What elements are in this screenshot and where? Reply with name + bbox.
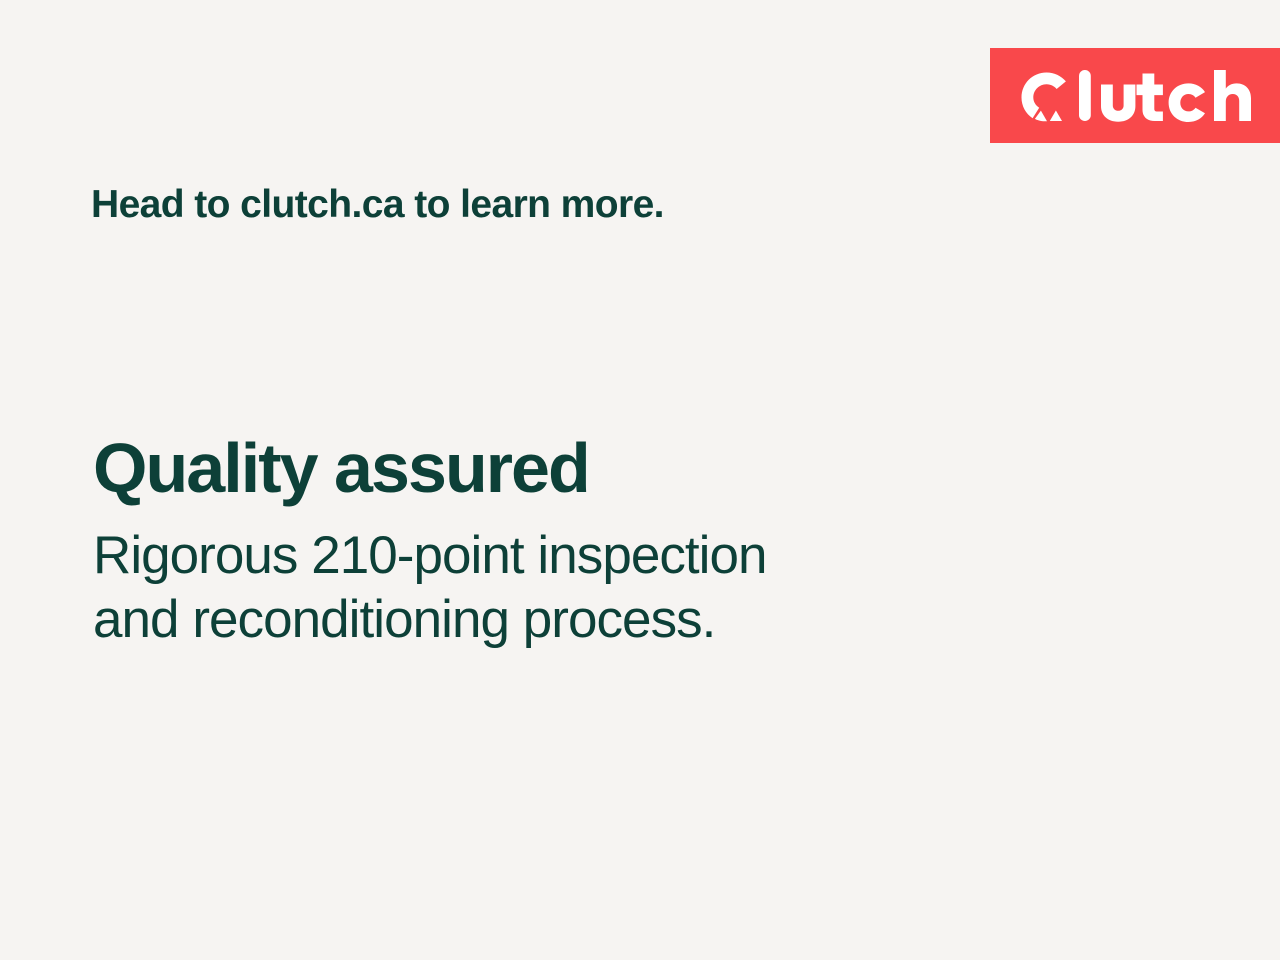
page-title: Quality assured [93, 432, 1073, 506]
copy-block: Quality assured Rigorous 210-point inspe… [93, 432, 1073, 653]
subhead: Rigorous 210-point inspection and recond… [93, 524, 1073, 653]
lead-line: Head to clutch.ca to learn more. [91, 180, 664, 230]
promo-slide: Head to clutch.ca to learn more. Quality… [0, 0, 1280, 960]
subhead-line-1: Rigorous 210-point inspection [93, 524, 1073, 589]
clutch-wordmark-svg [1016, 65, 1260, 127]
clutch-c-mark [1022, 72, 1072, 121]
clutch-wordmark [1010, 48, 1260, 143]
brand-logo-badge[interactable] [990, 48, 1280, 143]
subhead-line-2: and reconditioning process. [93, 588, 1073, 653]
